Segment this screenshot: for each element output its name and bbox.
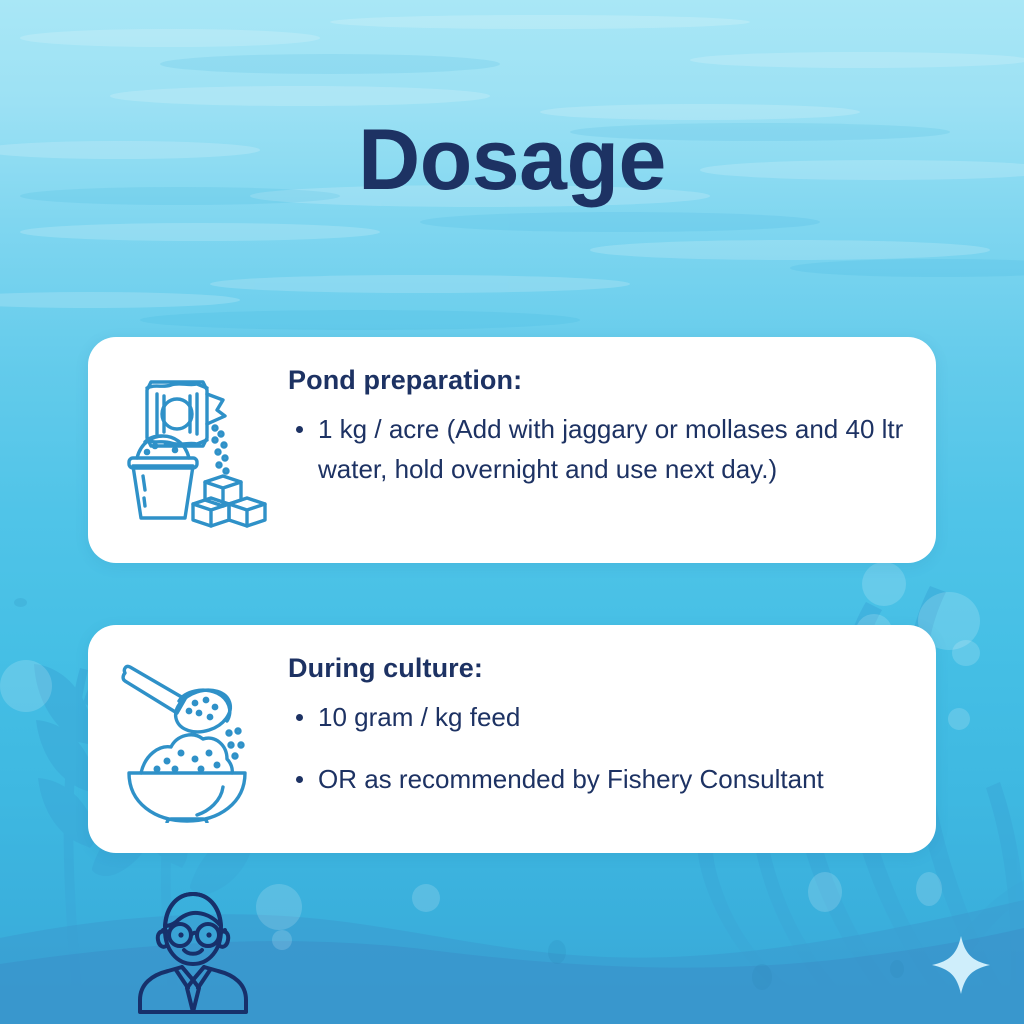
list-item: 10 gram / kg feed bbox=[288, 698, 906, 738]
card-icon-slot bbox=[88, 625, 288, 853]
bubble bbox=[890, 960, 904, 978]
card-bullet-list: 10 gram / kg feed OR as recommended by F… bbox=[288, 698, 906, 799]
bubble bbox=[256, 884, 302, 930]
list-item: 1 kg / acre (Add with jaggary or mollase… bbox=[288, 410, 906, 489]
bubble bbox=[0, 660, 52, 712]
card-body: Pond preparation: 1 kg / acre (Add with … bbox=[288, 337, 936, 509]
bubble bbox=[14, 598, 27, 607]
bubble bbox=[808, 872, 842, 912]
bubble bbox=[862, 562, 906, 606]
sachet-bucket-sugar-icon bbox=[111, 366, 279, 534]
card-icon-slot bbox=[88, 337, 288, 563]
card-bullet-list: 1 kg / acre (Add with jaggary or mollase… bbox=[288, 410, 906, 489]
fishery-consultant-icon bbox=[132, 884, 254, 1014]
card-heading: During culture: bbox=[288, 653, 906, 684]
dosage-card-pond-preparation: Pond preparation: 1 kg / acre (Add with … bbox=[88, 337, 936, 563]
bubble bbox=[752, 964, 772, 990]
page-title: Dosage bbox=[0, 113, 1024, 208]
bubble bbox=[948, 708, 970, 730]
list-item: OR as recommended by Fishery Consultant bbox=[288, 760, 906, 800]
poster-canvas: Dosage bbox=[0, 0, 1024, 1024]
bubble bbox=[916, 872, 942, 906]
card-heading: Pond preparation: bbox=[288, 365, 906, 396]
spoon-bowl-feed-icon bbox=[111, 655, 279, 823]
bubble bbox=[952, 640, 980, 666]
dosage-card-during-culture: During culture: 10 gram / kg feed OR as … bbox=[88, 625, 936, 853]
bubble bbox=[548, 940, 566, 964]
sparkle-star-icon bbox=[930, 934, 992, 996]
bubble bbox=[272, 930, 292, 950]
bubble bbox=[412, 884, 440, 912]
card-body: During culture: 10 gram / kg feed OR as … bbox=[288, 625, 936, 841]
